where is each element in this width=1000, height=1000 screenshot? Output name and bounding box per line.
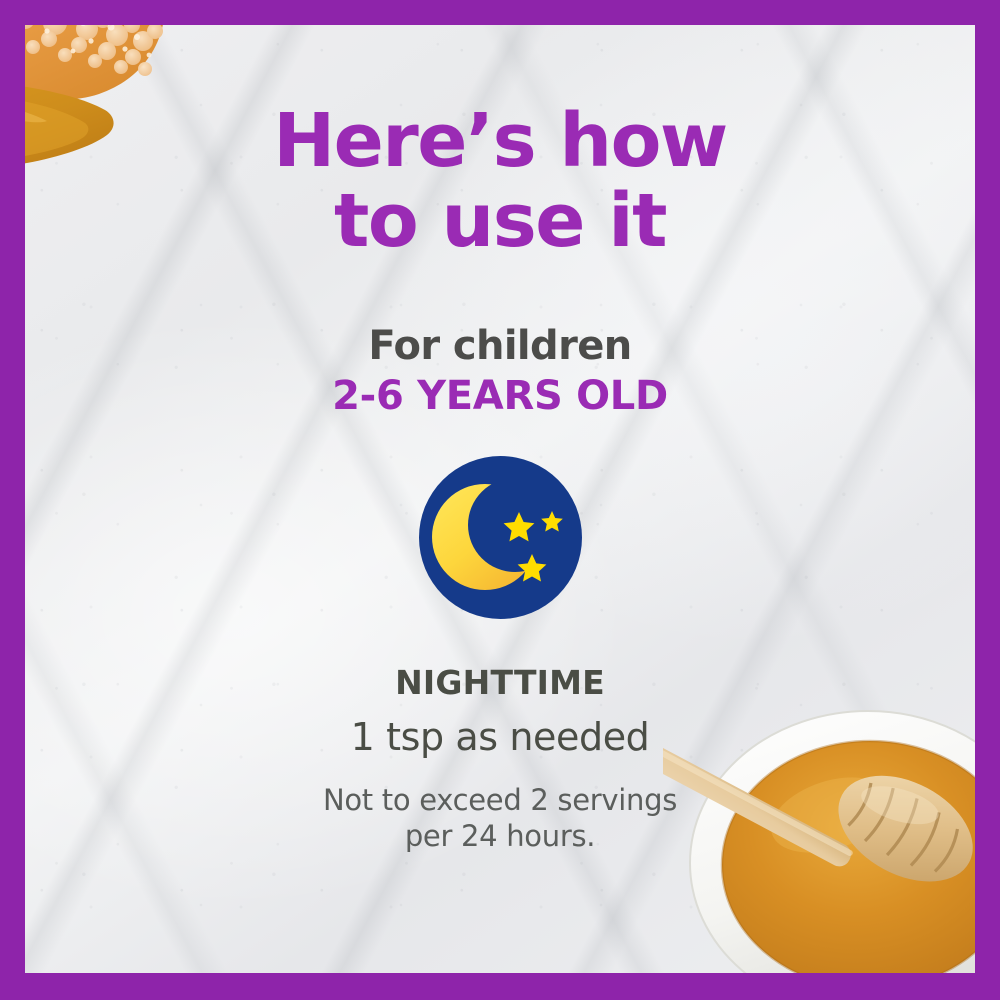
audience-label: For children	[0, 323, 1000, 369]
headline-line-2: to use it	[0, 181, 1000, 261]
dosage-amount: 1 tsp as needed	[0, 714, 1000, 760]
page-title: Here’s how to use it	[0, 101, 1000, 261]
dosage-note-line-2: per 24 hours.	[0, 818, 1000, 854]
dosage-note-line-1: Not to exceed 2 servings	[0, 782, 1000, 818]
crescent-moon-shape	[419, 456, 582, 619]
dosage-time-of-day: NIGHTTIME	[0, 663, 1000, 703]
nighttime-moon-stars-icon	[419, 456, 582, 619]
headline-line-1: Here’s how	[273, 98, 727, 184]
instruction-content: Here’s how to use it For children 2-6 YE…	[0, 0, 1000, 1000]
dosage-note: Not to exceed 2 servings per 24 hours.	[0, 782, 1000, 854]
product-instruction-card: Here’s how to use it For children 2-6 YE…	[0, 0, 1000, 1000]
audience-age-range: 2-6 YEARS OLD	[0, 373, 1000, 419]
